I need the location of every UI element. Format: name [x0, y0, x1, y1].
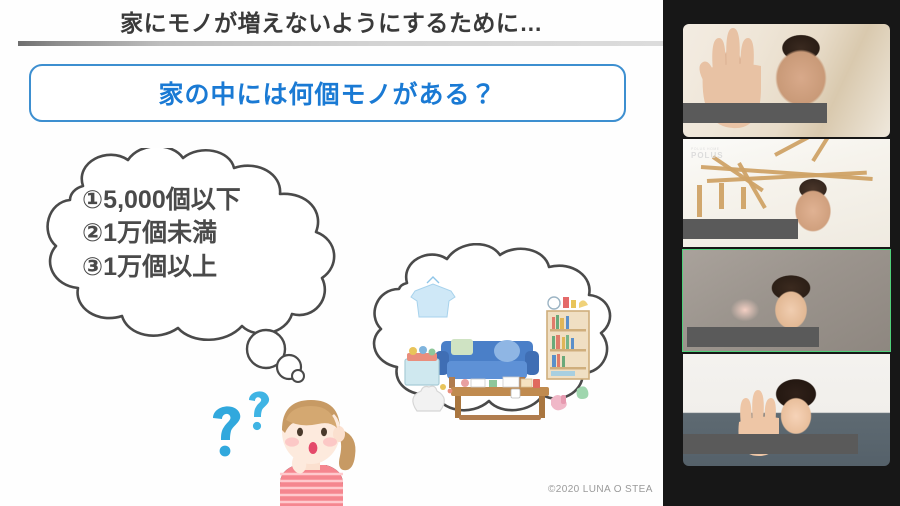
video-call-panel: POLUS HOME POLUS: [663, 0, 900, 506]
option-item-2: ②1万個未満: [82, 217, 332, 250]
copyright-text: ©2020 LUNA O STEA: [548, 484, 653, 495]
video-tile-participant-4[interactable]: [683, 354, 890, 466]
option-item-1: ①5,000個以下: [82, 184, 332, 217]
options-list: ①5,000個以下 ②1万個未満 ③1万個以上: [82, 184, 332, 284]
video-tile-participant-2[interactable]: POLUS HOME POLUS: [683, 139, 890, 247]
video-tile-participant-3[interactable]: [683, 250, 890, 351]
participant-name-redaction-3: [687, 327, 819, 347]
thinking-woman-illustration: [258, 386, 366, 506]
screen-root: 家にモノが増えないようにするために… 家の中には何個モノがある？ ①5,000個…: [0, 0, 900, 506]
thought-tail-bubbles-left: [244, 328, 314, 384]
thought-bubble-room: [355, 243, 620, 443]
presentation-slide: 家にモノが増えないようにするために… 家の中には何個モノがある？ ①5,000個…: [0, 0, 663, 506]
participant-name-redaction-1: [683, 103, 827, 123]
thought-cloud-right-shape: [355, 243, 620, 443]
question-box-text: 家の中には何個モノがある？: [158, 75, 496, 111]
slide-title: 家にモノが増えないようにするために…: [0, 4, 663, 38]
polus-watermark: POLUS HOME POLUS: [691, 147, 724, 160]
title-divider: [18, 41, 663, 46]
thought-bubble-options: ①5,000個以下 ②1万個未満 ③1万個以上: [20, 148, 370, 363]
participant-name-redaction-4: [683, 434, 858, 454]
participant-name-redaction-2: [683, 219, 798, 239]
video-tile-participant-1[interactable]: [683, 24, 890, 137]
polus-watermark-main: POLUS: [691, 151, 724, 160]
question-box: 家の中には何個モノがある？: [29, 64, 626, 122]
option-item-3: ③1万個以上: [82, 251, 332, 284]
